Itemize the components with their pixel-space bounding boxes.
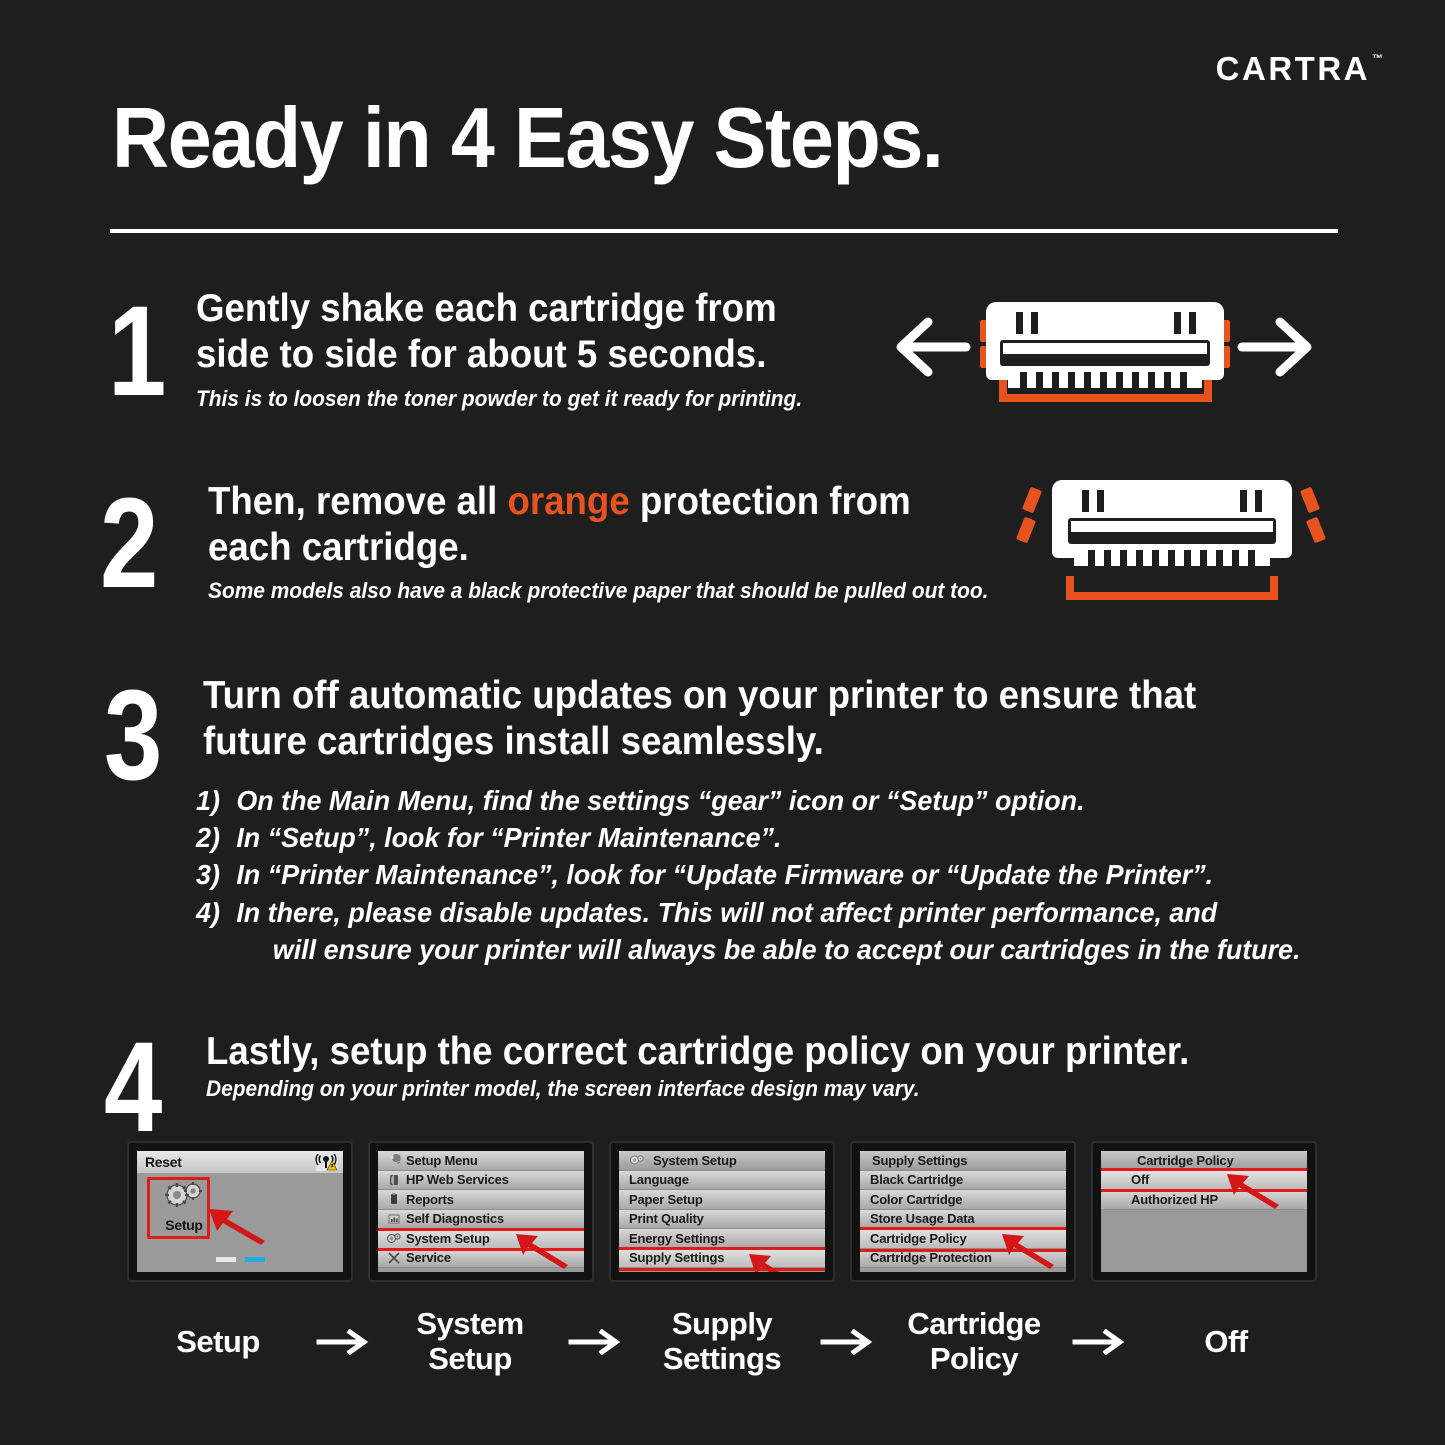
flow-label-off: Off: [1135, 1325, 1317, 1360]
list-item-text: On the Main Menu, find the settings “gea…: [236, 782, 1348, 819]
menu-item-cartridge-policy[interactable]: Cartridge Policy: [860, 1229, 1066, 1249]
menu-item-paper-setup[interactable]: Paper Setup: [619, 1190, 825, 1210]
printer-screen-cartridge-policy: Cartridge Policy Off Authorized HP: [1091, 1141, 1317, 1282]
menu-item-label: Print Quality: [625, 1211, 704, 1226]
list-item-marker: 3): [196, 856, 236, 893]
flow-label-cartridge-policy: CartridgePolicy: [883, 1307, 1065, 1376]
gear-icon: [627, 1153, 646, 1167]
list-item-marker: 4): [196, 894, 236, 931]
menu-item-print-quality[interactable]: Print Quality: [619, 1210, 825, 1230]
step-2-heading-highlight: orange: [507, 480, 629, 523]
list-item-text-line2: will ensure your printer will always be …: [236, 931, 1348, 968]
list-item: 1) On the Main Menu, find the settings “…: [196, 782, 1348, 819]
step-4-number: 4: [104, 1024, 162, 1152]
clipboard-icon: [384, 1192, 403, 1206]
list-item: 3) In “Printer Maintenance”, look for “U…: [196, 856, 1348, 893]
list-item-marker: 1): [196, 782, 236, 819]
panel5-header: Cartridge Policy: [1101, 1151, 1307, 1171]
trademark-symbol: ™: [1372, 53, 1383, 65]
tools-icon: [384, 1251, 403, 1265]
menu-item-service[interactable]: Service: [378, 1249, 584, 1269]
menu-item-label: Service: [406, 1250, 451, 1265]
step-2-heading: Then, remove all orange protection from …: [208, 479, 911, 571]
menu-item-label: Cartridge Policy: [866, 1231, 967, 1246]
flow-label-setup: Setup: [127, 1325, 309, 1360]
menu-item-cartridge-protection[interactable]: Cartridge Protection: [860, 1249, 1066, 1269]
step-1-subtext: This is to loosen the toner powder to ge…: [196, 386, 802, 412]
step-1-heading-line2: side to side for about 5 seconds.: [196, 332, 777, 378]
menu-item-label: Paper Setup: [625, 1192, 703, 1207]
step-2-heading-part1: Then, remove all: [208, 480, 507, 523]
wireless-warning-icon: [315, 1153, 343, 1171]
menu-item-color-cartridge[interactable]: Color Cartridge: [860, 1190, 1066, 1210]
detached-orange-tabs-left: [1016, 487, 1042, 544]
menu-item-reports[interactable]: Reports: [378, 1190, 584, 1210]
cartridge-shake-illustration: [888, 288, 1320, 406]
panel4-header-label: Supply Settings: [868, 1153, 967, 1168]
menu-item-hp-web-services[interactable]: HP Web Services: [378, 1171, 584, 1191]
menu-item-black-cartridge[interactable]: Black Cartridge: [860, 1171, 1066, 1191]
gear-icon: [161, 1181, 207, 1216]
panel1-topbar: Reset: [137, 1151, 343, 1173]
menu-item-label: Reports: [406, 1192, 454, 1207]
step-4-subtext: Depending on your printer model, the scr…: [206, 1076, 920, 1102]
menu-item-label: Self Diagnostics: [406, 1211, 504, 1226]
step-2-number: 2: [100, 480, 158, 608]
menu-item-authorized-hp[interactable]: Authorized HP: [1101, 1190, 1307, 1210]
detached-orange-tabs-right: [1300, 487, 1326, 544]
menu-item-supply-settings[interactable]: Supply Settings: [619, 1249, 825, 1269]
menu-item-setup-menu[interactable]: Setup Menu: [378, 1151, 584, 1171]
menu-item-system-setup[interactable]: System Setup: [378, 1229, 584, 1249]
setup-tile-label: Setup: [165, 1217, 202, 1233]
panel5-header-label: Cartridge Policy: [1109, 1153, 1234, 1168]
menu-item-label: Store Usage Data: [866, 1211, 974, 1226]
arrow-right-icon: [813, 1329, 883, 1355]
step-2-heading-part2: protection from: [630, 480, 911, 523]
menu-item-label: Authorized HP: [1107, 1192, 1218, 1207]
wrench-icon: [384, 1153, 403, 1167]
chart-icon: [384, 1212, 403, 1226]
step-1-heading-line1: Gently shake each cartridge from: [196, 286, 777, 332]
arrow-left-icon: [901, 322, 966, 372]
menu-item-energy-settings[interactable]: Energy Settings: [619, 1229, 825, 1249]
step-2-heading-line2: each cartridge.: [208, 525, 911, 571]
cartridge-remove-protection-illustration: [1012, 470, 1332, 602]
printer-screen-system-setup: System Setup Language Paper Setup Print …: [609, 1141, 835, 1282]
panel3-header: System Setup: [619, 1151, 825, 1171]
step-2-subtext: Some models also have a black protective…: [208, 578, 988, 604]
brand-name: CARTRA: [1216, 52, 1370, 85]
navigation-flow: Setup SystemSetup SupplySettings Cartrid…: [127, 1292, 1317, 1392]
list-item: 4) In there, please disable updates. Thi…: [196, 894, 1348, 968]
reset-label: Reset: [137, 1154, 182, 1170]
menu-item-label: Setup Menu: [406, 1153, 478, 1168]
step-3-heading-line1: Turn off automatic updates on your print…: [203, 673, 1196, 719]
list-item-text: In “Printer Maintenance”, look for “Upda…: [236, 856, 1348, 893]
step-2-heading-line1: Then, remove all orange protection from: [208, 479, 911, 525]
detached-orange-strip: [1070, 576, 1274, 596]
panel4-header: Supply Settings: [860, 1151, 1066, 1171]
arrow-right-icon: [1242, 322, 1307, 372]
gear-icon: [384, 1231, 403, 1245]
step-3-instruction-list: 1) On the Main Menu, find the settings “…: [196, 782, 1396, 968]
menu-item-store-usage-data[interactable]: Store Usage Data: [860, 1210, 1066, 1230]
list-item-marker: 2): [196, 819, 236, 856]
menu-item-label: HP Web Services: [406, 1172, 509, 1187]
menu-item-label: Black Cartridge: [866, 1172, 963, 1187]
setup-tile[interactable]: Setup: [151, 1181, 217, 1233]
menu-item-label: Language: [625, 1172, 689, 1187]
menu-item-label: Cartridge Protection: [866, 1250, 992, 1265]
flow-label-supply-settings: SupplySettings: [631, 1307, 813, 1376]
pagination-dot[interactable]: [216, 1257, 236, 1262]
printer-screen-supply-settings: Supply Settings Black Cartridge Color Ca…: [850, 1141, 1076, 1282]
menu-item-label: Supply Settings: [625, 1250, 724, 1265]
step-3-heading-line2: future cartridges install seamlessly.: [203, 719, 1196, 765]
pagination-dot-active[interactable]: [245, 1257, 265, 1262]
infographic-page: CARTRA ™ Ready in 4 Easy Steps. 1 Gently…: [0, 0, 1445, 1445]
menu-item-label: Color Cartridge: [866, 1192, 962, 1207]
page-title: Ready in 4 Easy Steps.: [112, 96, 942, 181]
menu-item-label: System Setup: [406, 1231, 490, 1246]
step-3-heading: Turn off automatic updates on your print…: [203, 673, 1196, 765]
printer-screen-setup: Reset: [127, 1141, 353, 1282]
step-3-number: 3: [104, 672, 162, 800]
menu-item-label: Off: [1107, 1172, 1149, 1187]
arrow-right-icon: [561, 1329, 631, 1355]
step-4-heading: Lastly, setup the correct cartridge poli…: [206, 1029, 1189, 1075]
list-item: 2) In “Setup”, look for “Printer Mainten…: [196, 819, 1348, 856]
list-item-text-line1: In there, please disable updates. This w…: [236, 897, 1217, 928]
arrow-right-icon: [309, 1329, 379, 1355]
step-1-heading: Gently shake each cartridge from side to…: [196, 286, 777, 378]
title-divider: [110, 229, 1338, 233]
panel3-header-label: System Setup: [649, 1153, 737, 1168]
menu-item-language[interactable]: Language: [619, 1171, 825, 1191]
menu-item-off[interactable]: Off: [1101, 1171, 1307, 1191]
list-item-text: In there, please disable updates. This w…: [236, 894, 1348, 968]
arrow-right-icon: [1065, 1329, 1135, 1355]
printer-screen-setup-menu: Setup Menu HP Web Services Reports Self …: [368, 1141, 594, 1282]
menu-item-label: Energy Settings: [625, 1231, 725, 1246]
globe-icon: [384, 1173, 403, 1187]
brand-logo: CARTRA ™: [1216, 52, 1383, 85]
list-item-text: In “Setup”, look for “Printer Maintenanc…: [236, 819, 1348, 856]
step-1-number: 1: [108, 288, 166, 416]
menu-item-self-diagnostics[interactable]: Self Diagnostics: [378, 1210, 584, 1230]
flow-label-system-setup: SystemSetup: [379, 1307, 561, 1376]
pagination-dots: [137, 1257, 343, 1262]
